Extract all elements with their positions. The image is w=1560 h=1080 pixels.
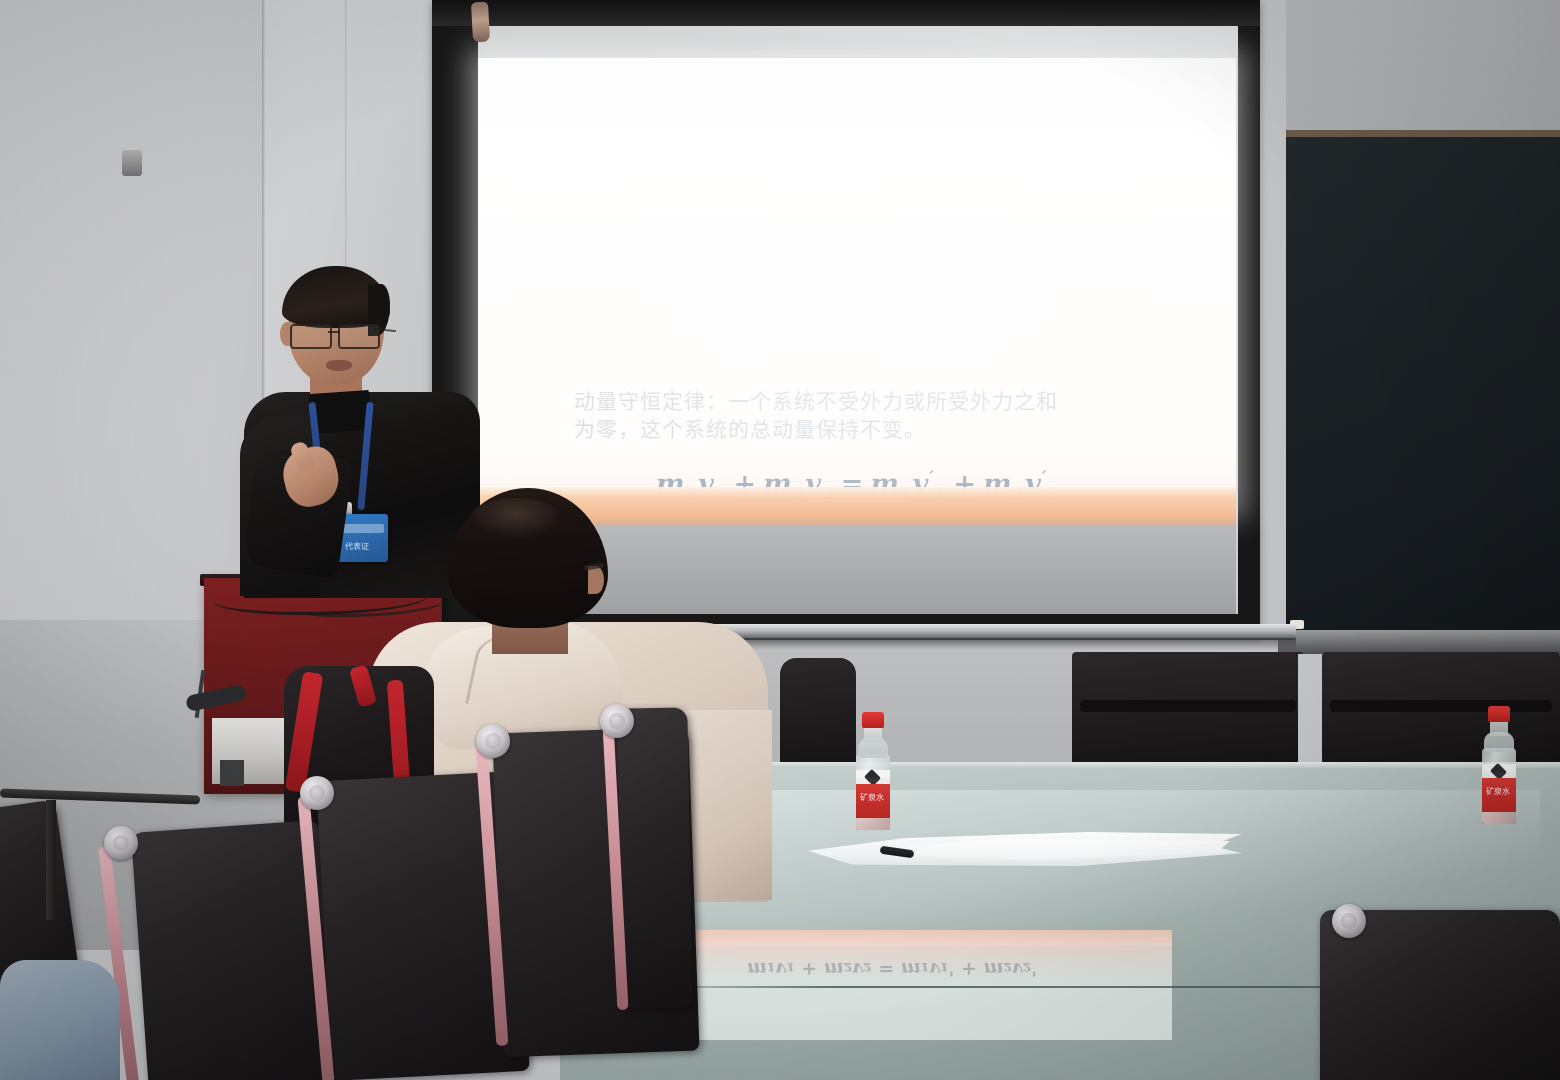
glasses-bridge bbox=[328, 331, 340, 333]
table-reflection-band bbox=[612, 930, 1172, 946]
chair-hinge-knob[interactable] bbox=[600, 704, 634, 738]
bottle-reflection bbox=[1482, 772, 1516, 824]
chair-backrest[interactable] bbox=[617, 707, 692, 1008]
chair-hinge-knob[interactable] bbox=[104, 826, 138, 860]
water-bottle: 矿泉水 bbox=[852, 712, 892, 830]
backpack-buckle bbox=[122, 150, 142, 176]
slide-text-line-2: 为零，这个系统的总动量保持不变。 bbox=[548, 416, 1168, 444]
blackboard-chalk-ledge bbox=[1278, 630, 1560, 654]
bottle-neck bbox=[1490, 720, 1508, 736]
bottle-cap bbox=[1488, 706, 1510, 722]
bottle-cap bbox=[862, 712, 884, 728]
audience-ear bbox=[588, 566, 604, 594]
far-chair-crossbar bbox=[1080, 700, 1296, 712]
far-chair-crossbar bbox=[1330, 700, 1552, 712]
person-jeans bbox=[0, 960, 120, 1080]
glasses-icon bbox=[288, 324, 384, 346]
photo-scene: 动量守恒定律：一个系统不受外力或所受外力之和 为零，这个系统的总动量保持不变。 … bbox=[0, 0, 1560, 1080]
glasses-lens-left bbox=[290, 324, 332, 349]
chair-gap bbox=[1298, 654, 1322, 772]
wall-above-blackboard bbox=[1286, 0, 1560, 130]
chair-hinge-knob[interactable] bbox=[1332, 904, 1366, 938]
bottle-reflection bbox=[856, 778, 890, 830]
audience-hair-highlight bbox=[470, 498, 562, 538]
chair-rail-vertical bbox=[46, 800, 56, 920]
equipment-box-port bbox=[220, 760, 244, 786]
bottle-neck bbox=[864, 726, 882, 742]
hanging-object-icon bbox=[471, 2, 490, 43]
presenter-mouth bbox=[326, 360, 352, 371]
water-bottle: 矿泉水 bbox=[1478, 706, 1518, 824]
chair-hinge-knob[interactable] bbox=[300, 776, 334, 810]
projected-slide: 动量守恒定律：一个系统不受外力或所受外力之和 为零，这个系统的总动量保持不变。 … bbox=[478, 58, 1236, 508]
blackboard bbox=[1286, 130, 1560, 645]
slide-text-line-1: 动量守恒定律：一个系统不受外力或所受外力之和 bbox=[548, 388, 1168, 416]
chair-hinge-knob[interactable] bbox=[476, 724, 510, 758]
